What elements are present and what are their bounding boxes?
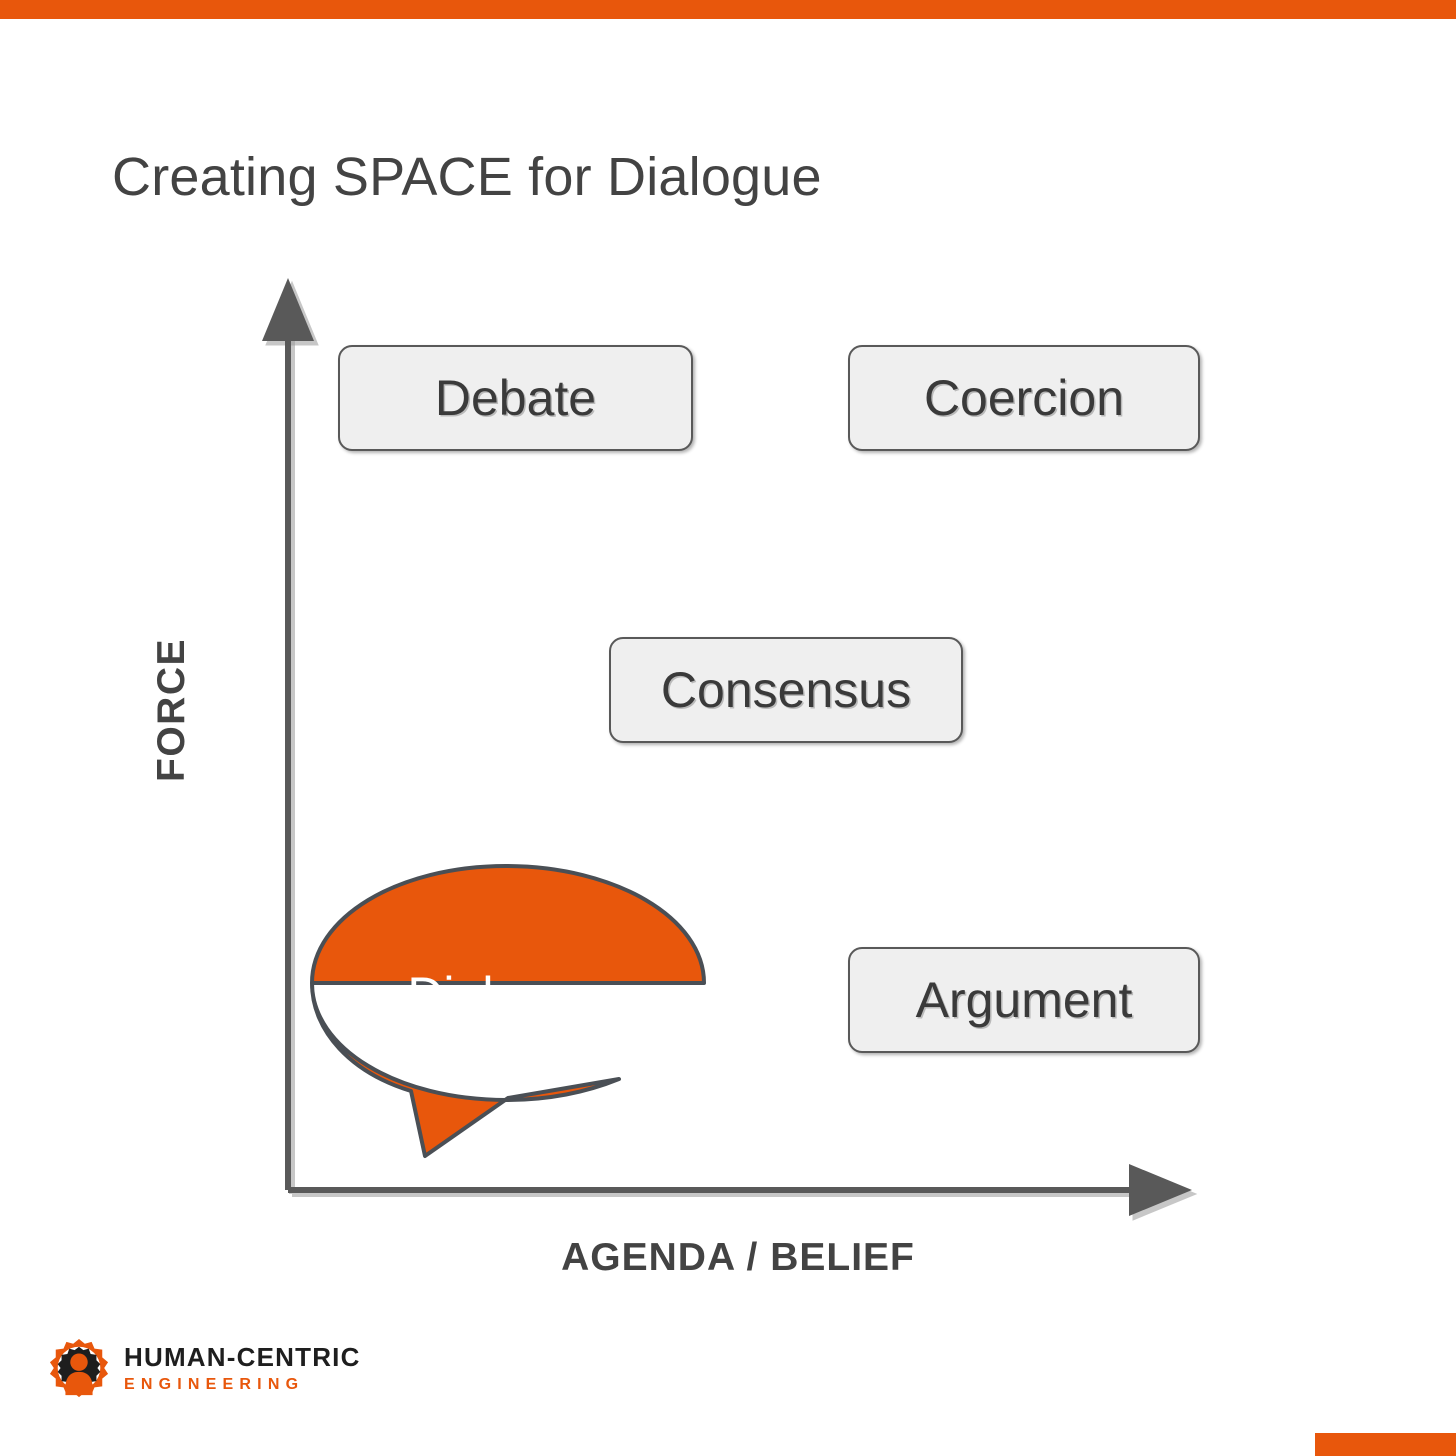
y-axis-arrowhead — [262, 278, 314, 341]
top-accent-bar — [0, 0, 1456, 19]
node-coercion-label: Coercion — [924, 369, 1124, 427]
brand-logo-text: HUMAN-CENTRIC ENGINEERING — [124, 1344, 361, 1393]
node-dialogue-label: Dialogue — [308, 966, 704, 1024]
brand-name: HUMAN-CENTRIC — [124, 1344, 361, 1370]
node-argument-label: Argument — [916, 971, 1133, 1029]
x-axis-arrowhead — [1129, 1164, 1192, 1216]
page-title: Creating SPACE for Dialogue — [112, 146, 822, 208]
node-coercion[interactable]: Coercion — [848, 345, 1200, 451]
node-debate-label: Debate — [435, 369, 596, 427]
node-dialogue[interactable]: Dialogue — [308, 862, 728, 1172]
x-axis-label: AGENDA / BELIEF — [288, 1236, 1188, 1280]
y-axis-label: FORCE — [150, 600, 194, 820]
node-consensus[interactable]: Consensus — [609, 637, 963, 743]
bottom-right-accent-bar — [1315, 1433, 1456, 1456]
brand-logo[interactable]: HUMAN-CENTRIC ENGINEERING — [48, 1337, 361, 1399]
node-argument[interactable]: Argument — [848, 947, 1200, 1053]
node-consensus-label: Consensus — [661, 661, 911, 719]
node-debate[interactable]: Debate — [338, 345, 693, 451]
brand-subtitle: ENGINEERING — [124, 1377, 361, 1393]
gear-person-icon — [48, 1337, 110, 1399]
